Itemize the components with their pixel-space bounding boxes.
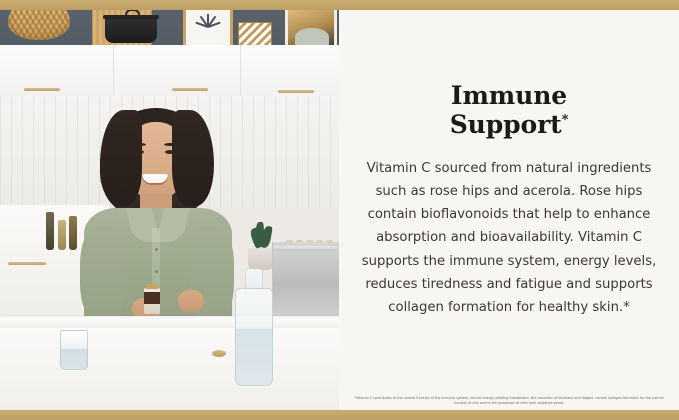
text-panel-content: Immune Support* Vitamin C sourced from n… bbox=[339, 10, 679, 390]
top-gold-rule bbox=[0, 0, 679, 10]
dishwasher-handle bbox=[274, 246, 337, 251]
glass-water-bottle bbox=[235, 288, 273, 386]
dishwasher bbox=[272, 242, 339, 318]
cabinet-handle bbox=[24, 88, 60, 91]
supplement-cap-on-counter bbox=[212, 350, 226, 357]
smiling-mouth bbox=[142, 174, 168, 185]
supplement-cap bbox=[146, 284, 158, 289]
plant-pot bbox=[248, 248, 274, 270]
framed-botanical-art bbox=[183, 4, 233, 50]
cabinet-handle bbox=[278, 90, 314, 93]
cabinet-seam bbox=[113, 45, 114, 98]
cabinet-handle bbox=[172, 88, 208, 91]
hair-strand-left bbox=[100, 110, 142, 206]
base-cabinet-handle bbox=[8, 262, 46, 265]
bottom-gold-rule bbox=[0, 410, 679, 420]
person-figure bbox=[78, 108, 238, 318]
hand-right bbox=[178, 290, 204, 312]
drinking-glass bbox=[60, 330, 88, 370]
oil-bottle bbox=[46, 212, 54, 250]
cabinet-seam bbox=[240, 45, 241, 98]
page-title: Immune Support* bbox=[450, 81, 569, 140]
hair-strand-right bbox=[172, 110, 214, 206]
cooking-pot bbox=[105, 17, 157, 43]
lifestyle-photo bbox=[0, 0, 339, 412]
arm-left bbox=[80, 226, 124, 322]
shirt-button bbox=[155, 270, 158, 273]
ceramic-vase bbox=[295, 28, 329, 46]
oil-bottle bbox=[58, 220, 66, 250]
supplement-label bbox=[144, 292, 160, 304]
counter-shadow bbox=[0, 316, 339, 319]
oil-bottle bbox=[69, 216, 77, 250]
text-panel: Immune Support* Vitamin C sourced from n… bbox=[339, 0, 679, 420]
counter-front bbox=[0, 328, 339, 412]
headline-asterisk: * bbox=[562, 113, 569, 128]
product-info-banner: Immune Support* Vitamin C sourced from n… bbox=[0, 0, 679, 420]
body-copy: Vitamin C sourced from natural ingredien… bbox=[359, 157, 659, 320]
headline-line-2: Support bbox=[450, 110, 562, 139]
cooking-pot-handle bbox=[125, 9, 140, 18]
patterned-tin bbox=[238, 22, 272, 46]
shirt-button bbox=[155, 248, 158, 251]
headline-line-1: Immune bbox=[451, 81, 567, 110]
legal-footnote: *Vitamin C contributes to the normal fun… bbox=[348, 396, 670, 406]
